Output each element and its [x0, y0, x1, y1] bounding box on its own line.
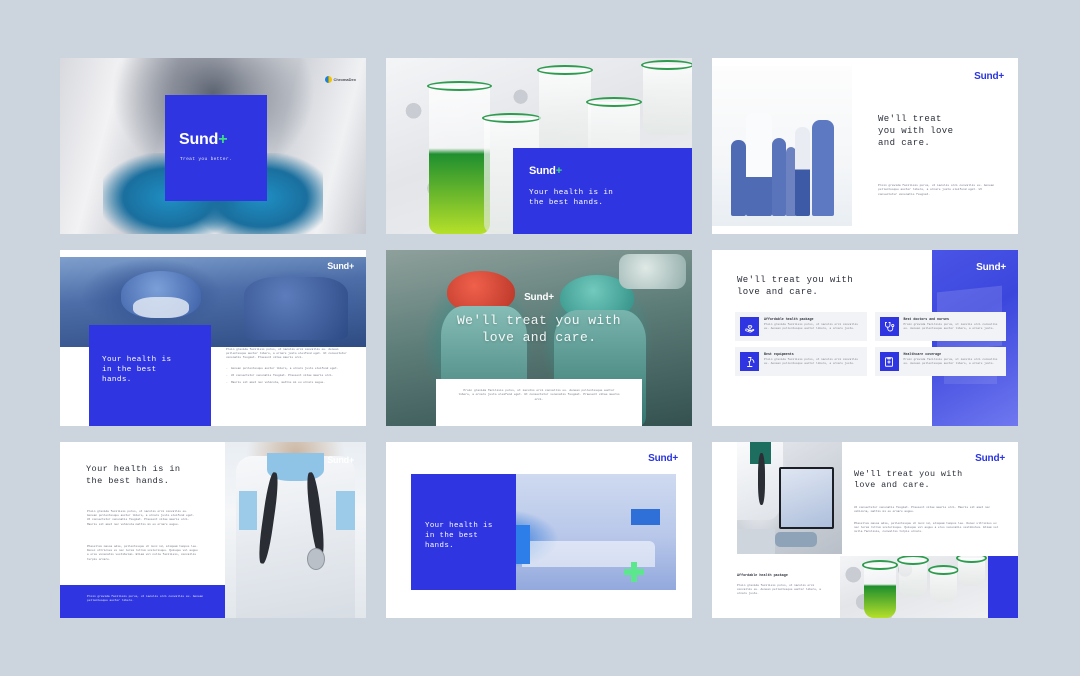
brand-name: Sund	[524, 292, 548, 303]
brand-plus-icon: +	[218, 131, 227, 148]
feature-title: Healthcare coverage	[904, 352, 1002, 356]
feature-title: Affordable health package	[737, 574, 826, 578]
feature-body: Proin gravida facilisis purus, ut iaculi…	[764, 358, 862, 367]
brand-plus-icon: +	[672, 453, 678, 464]
slide8-blue-panel: Your health is in the best hands.	[411, 474, 516, 590]
brand-name: Sund	[327, 455, 349, 465]
microscope-icon	[740, 352, 759, 371]
feature-card-best-doctors-and-nurses[interactable]: Best doctors and nurses Proin gravida fa…	[875, 312, 1007, 341]
slide-8-reception-overlay[interactable]: Sund+ Your health is in the best hands.	[386, 442, 692, 618]
brand-logo: Sund+	[179, 132, 227, 148]
slide9-body-2: Phasellus massa odio, pellentesque ut nu…	[854, 522, 1002, 535]
tube-green	[429, 86, 490, 234]
feature-title: Affordable health package	[764, 317, 862, 321]
chromadex-label: ChromaDex	[334, 77, 356, 82]
tube-empty-4	[643, 65, 692, 135]
clipboard-icon	[880, 352, 899, 371]
brand-name: Sund	[974, 71, 998, 82]
brand-name: Sund	[179, 131, 218, 148]
slide7-blue-footer: Proin gravida facilisis purus, ut iaculi…	[60, 585, 225, 618]
stethoscope-icon	[880, 317, 899, 336]
brand-logo: Sund+	[529, 166, 562, 177]
list-item: Ut consectetur venenatis feugiat. Praese…	[226, 374, 350, 378]
brand-logo: Sund+	[327, 262, 354, 271]
brand-plus-icon: +	[548, 292, 554, 303]
hand-heart-icon	[740, 317, 759, 336]
feature-card-affordable-health-package[interactable]: Affordable health package Proin gravida …	[735, 312, 867, 341]
brand-logo: Sund+	[974, 72, 1004, 82]
chromadex-partner-logo: ChromaDex	[325, 76, 356, 83]
slide-3-corridor-split[interactable]: Sund+ We'll treat you with love and care…	[712, 58, 1018, 234]
feature-body: Proin gravida facilisis purus, ut iaculi…	[904, 323, 1002, 332]
slide2-headline: Your health is in the best hands.	[529, 188, 678, 208]
slide4-text-block: Proin gravida facilisis purus, ut iaculi…	[226, 348, 350, 388]
brand-logo: Sund+	[975, 454, 1005, 464]
brand-plus-icon: +	[999, 453, 1005, 464]
slide3-body: Proin gravida facilisis purus, ut iaculi…	[878, 184, 1000, 197]
cover-tagline: Treat you better.	[180, 157, 232, 164]
feature-body: Proin gravida facilisis purus, ut iaculi…	[764, 323, 862, 332]
slide8-headline: Your health is in the best hands.	[425, 522, 506, 552]
slide9-headline: We'll treat you with love and care.	[854, 469, 1004, 492]
brand-logo: Sund+	[524, 293, 554, 303]
brand-plus-icon: +	[998, 71, 1004, 82]
brand-name: Sund	[327, 261, 349, 271]
feature-title: Best equipments	[764, 352, 862, 356]
slide-deck-grid: ChromaDex Sund+ Treat you better. Sund+ …	[60, 58, 1020, 618]
brand-name: Sund	[648, 453, 672, 464]
slide5-caption-text: Proin gravida facilisis purus, ut iaculi…	[458, 389, 620, 402]
slide5-headline: We'll treat you with love and care.	[386, 312, 692, 347]
slide-6-features-grid[interactable]: Sund+ We'll treat you with love and care…	[712, 250, 1018, 426]
staff-group	[729, 104, 838, 216]
slide-2-test-tubes[interactable]: Sund+ Your health is in the best hands.	[386, 58, 692, 234]
test-tubes-photo-small	[840, 556, 988, 618]
slide7-body-1: Proin gravida facilisis purus, ut iaculi…	[87, 510, 199, 527]
slide4-body: Proin gravida facilisis purus, ut iaculi…	[226, 348, 350, 361]
tube-empty-3	[958, 558, 985, 585]
tube-green	[864, 565, 897, 618]
feature-body: Proin gravida facilisis purus, ut iaculi…	[904, 358, 1002, 367]
feature-card-grid: Affordable health package Proin gravida …	[735, 312, 1006, 376]
brand-name: Sund	[976, 262, 1000, 273]
slide9-body-1: Ut consectetur venenatis feugiat. Praese…	[854, 506, 1002, 514]
nurse-photo	[225, 442, 366, 618]
slide7-body-2: Phasellus massa odio, pellentesque ut nu…	[87, 545, 199, 562]
feature-card-best-equipments[interactable]: Best equipments Proin gravida facilisis …	[735, 347, 867, 376]
green-plus-icon	[624, 562, 644, 582]
slide-9-doctor-pc-collage[interactable]: Sund+ We'll treat you with love and care…	[712, 442, 1018, 618]
slide-7-nurse-text[interactable]: Sund+ Your health is in the best hands. …	[60, 442, 366, 618]
list-item: Mauris sit amet nec vehicula, mattis mi …	[226, 381, 350, 385]
doctor-computer-photo	[737, 442, 842, 554]
brand-plus-icon: +	[349, 455, 354, 465]
slide7-headline: Your health is in the best hands.	[86, 464, 216, 487]
chromadex-ring-icon	[325, 76, 332, 83]
tube-empty-1	[899, 560, 927, 597]
slide4-bullet-list: Aenean pellentesque auctor libero, a orn…	[226, 367, 350, 386]
slide2-blue-panel: Sund+ Your health is in the best hands.	[513, 148, 692, 234]
brand-name: Sund	[529, 165, 556, 177]
tube-empty-2	[930, 570, 957, 602]
slide-5-surgery-fullbleed[interactable]: Sund+ We'll treat you with love and care…	[386, 250, 692, 426]
hospital-corridor-photo	[712, 66, 852, 226]
brand-plus-icon: +	[556, 165, 562, 177]
slide6-headline: We'll treat you with love and care.	[737, 274, 853, 298]
brand-plus-icon: +	[1000, 262, 1006, 273]
slide4-blue-panel: Your health is in the best hands.	[89, 325, 211, 426]
feature-title: Best doctors and nurses	[904, 317, 1002, 321]
slide4-headline: Your health is in the best hands.	[102, 355, 201, 386]
slide3-headline: We'll treat you with love and care.	[878, 113, 1002, 149]
brand-logo: Sund+	[648, 454, 678, 464]
slide7-footer-text: Proin gravida facilisis purus, ut iaculi…	[87, 595, 211, 604]
cover-blue-card: Sund+ Treat you better.	[165, 95, 267, 201]
monitor-screen	[779, 467, 834, 530]
brand-logo: Sund+	[976, 263, 1006, 273]
slide9-blue-strip	[988, 556, 1018, 618]
slide9-feature-card[interactable]: Affordable health package Proin gravida …	[712, 556, 840, 618]
brand-plus-icon: +	[349, 261, 354, 271]
slide-1-cover-card[interactable]: ChromaDex Sund+ Treat you better.	[60, 58, 366, 234]
feature-body: Proin gravida facilisis purus, ut iaculi…	[737, 584, 826, 597]
list-item: Aenean pellentesque auctor libero, a orn…	[226, 367, 350, 371]
slide-4-surgery-bullets[interactable]: Your health is in the best hands. Sund+ …	[60, 250, 366, 426]
feature-card-healthcare-coverage[interactable]: Healthcare coverage Proin gravida facili…	[875, 347, 1007, 376]
brand-logo: Sund+	[327, 456, 354, 465]
slide5-caption-box: Proin gravida facilisis purus, ut iaculi…	[436, 379, 642, 426]
brand-name: Sund	[975, 453, 999, 464]
